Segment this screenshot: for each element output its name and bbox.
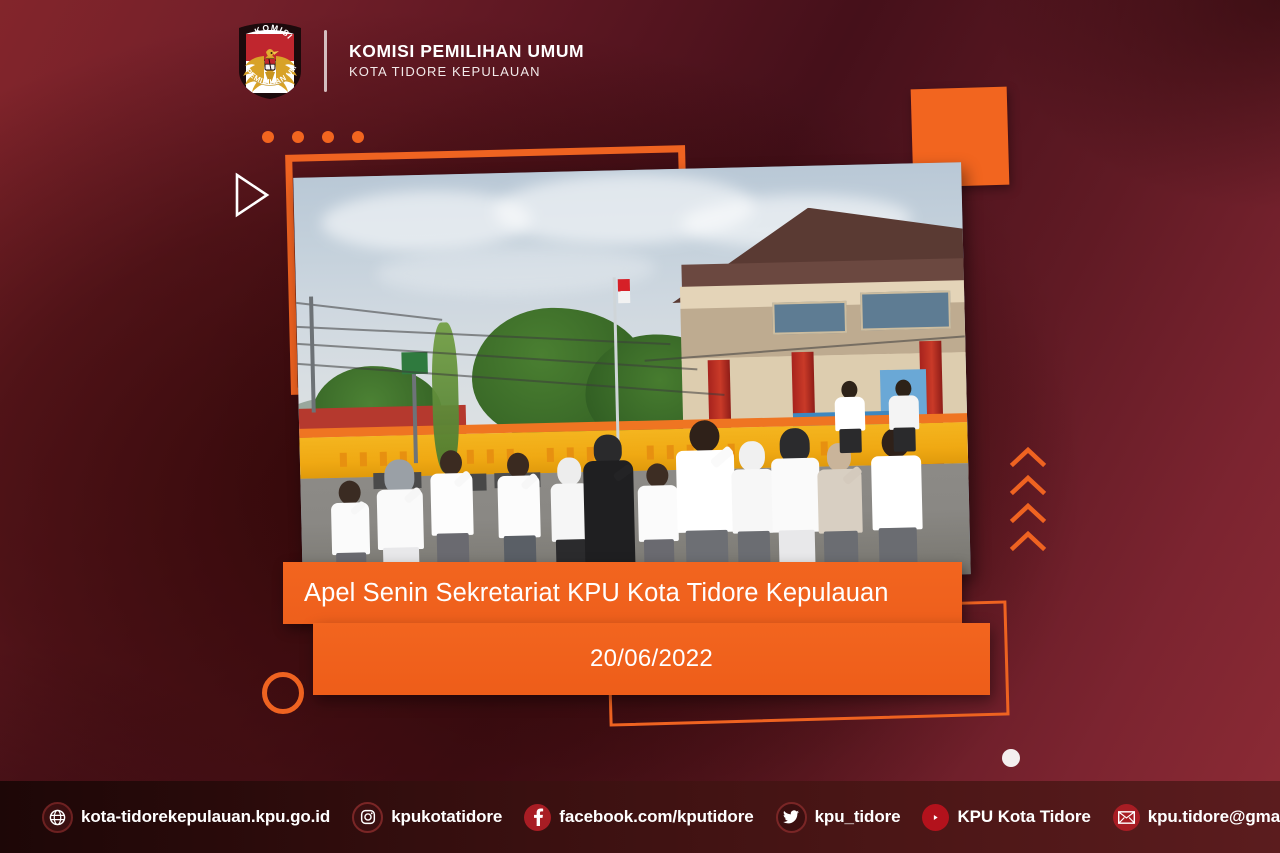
dot-2 <box>292 131 304 143</box>
chevron-up-icons <box>1006 446 1050 554</box>
footer-item-facebook[interactable]: facebook.com/kputidore <box>524 804 753 831</box>
footer-label: kota-tidorekepulauan.kpu.go.id <box>81 807 330 827</box>
kpu-garuda-logo: KOMISI PEMILIHAN UMUM <box>232 21 308 101</box>
footer-label: kpu_tidore <box>815 807 901 827</box>
footer-label: KPU Kota Tidore <box>957 807 1090 827</box>
footer-bar: kota-tidorekepulauan.kpu.go.id kpukotati… <box>0 781 1280 853</box>
footer-item-instagram[interactable]: kpukotatidore <box>352 802 502 833</box>
person <box>814 443 867 578</box>
youtube-icon <box>922 804 949 831</box>
org-name-line2: KOTA TIDORE KEPULAUAN <box>349 64 584 81</box>
page-title: Apel Senin Sekretariat KPU Kota Tidore K… <box>283 579 889 608</box>
indonesia-flag <box>618 279 631 303</box>
white-dot-decor <box>1002 749 1020 767</box>
footer-item-twitter[interactable]: kpu_tidore <box>776 802 901 833</box>
footer-label: kpu.tidore@gmail.com <box>1148 807 1280 827</box>
play-triangle-icon <box>234 172 270 218</box>
date-banner: 20/06/2022 <box>313 623 990 695</box>
dot-3 <box>322 131 334 143</box>
person-leader <box>886 380 922 453</box>
email-icon <box>1113 804 1140 831</box>
instagram-icon <box>352 802 383 833</box>
flag-ceremony-photo <box>293 162 971 590</box>
footer-item-youtube[interactable]: KPU Kota Tidore <box>922 804 1090 831</box>
ring-decor <box>262 672 304 714</box>
event-date: 20/06/2022 <box>590 645 713 673</box>
title-banner: Apel Senin Sekretariat KPU Kota Tidore K… <box>283 562 962 624</box>
globe-icon <box>42 802 73 833</box>
facebook-icon <box>524 804 551 831</box>
person <box>580 434 637 583</box>
header-text: KOMISI PEMILIHAN UMUM KOTA TIDORE KEPULA… <box>349 41 584 82</box>
header: KOMISI PEMILIHAN UMUM KOMISI PEMILIHAN U… <box>232 24 584 98</box>
footer-item-website[interactable]: kota-tidorekepulauan.kpu.go.id <box>42 802 330 833</box>
header-divider <box>324 30 327 92</box>
person-leader <box>833 381 869 454</box>
footer-item-email[interactable]: kpu.tidore@gmail.com <box>1113 804 1280 831</box>
dot-1 <box>262 131 274 143</box>
footer-label: kpukotatidore <box>391 807 502 827</box>
footer-label: facebook.com/kputidore <box>559 807 753 827</box>
dot-4 <box>352 131 364 143</box>
decorative-dots <box>262 131 364 143</box>
org-name-line1: KOMISI PEMILIHAN UMUM <box>349 41 584 63</box>
poster-canvas: KOMISI PEMILIHAN UMUM KOMISI PEMILIHAN U… <box>0 0 1280 853</box>
twitter-icon <box>776 802 807 833</box>
